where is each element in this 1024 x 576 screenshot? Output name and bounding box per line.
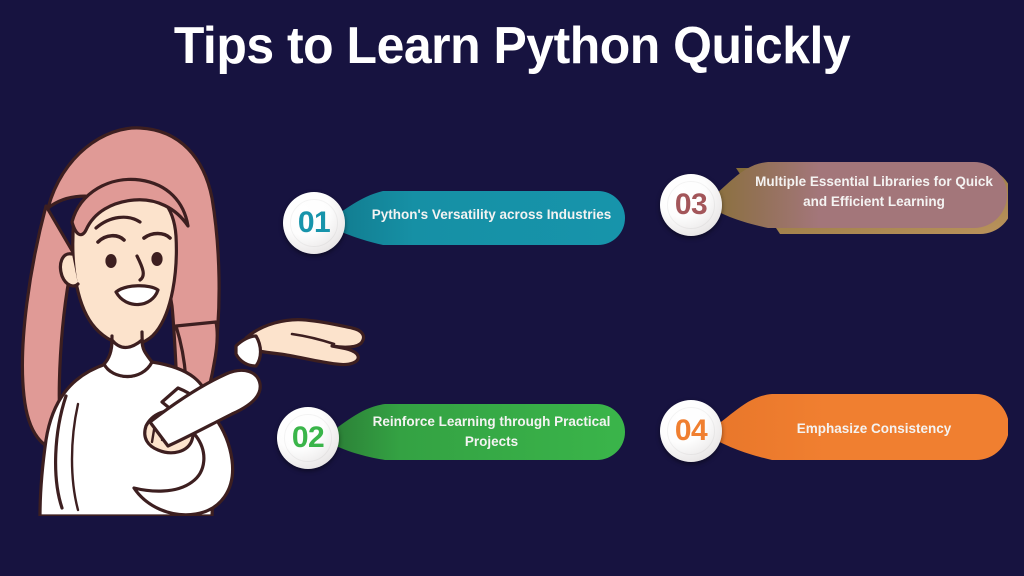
tip-04-label: Emphasize Consistency — [740, 402, 1008, 456]
hand-open — [244, 320, 364, 365]
tip-03-number: 03 — [660, 174, 722, 236]
eye-right — [151, 252, 162, 266]
infographic-canvas: Tips to Learn Python Quickly — [0, 0, 1024, 576]
tip-01-number: 01 — [283, 192, 345, 254]
tip-03-label: Multiple Essential Libraries for Quick a… — [740, 162, 1008, 222]
tip-01-label: Python's Versatility across Industries — [355, 189, 628, 241]
tip-04-number: 04 — [660, 400, 722, 462]
page-title: Tips to Learn Python Quickly — [20, 16, 1003, 76]
tip-02-number: 02 — [277, 407, 339, 469]
tip-02-label: Reinforce Learning through Practical Pro… — [355, 404, 628, 460]
tip-item-01[interactable]: 01 Python's Versatility across Industrie… — [283, 178, 628, 268]
tip-item-02[interactable]: 02 Reinforce Learning through Practical … — [277, 393, 628, 483]
eye-left — [105, 254, 116, 268]
tip-item-04[interactable]: 04 Emphasize Consistency — [660, 390, 1008, 480]
tip-item-03[interactable]: 03 Multiple Essential Libraries for Quic… — [660, 156, 1008, 246]
wrist-cuff — [236, 336, 261, 366]
